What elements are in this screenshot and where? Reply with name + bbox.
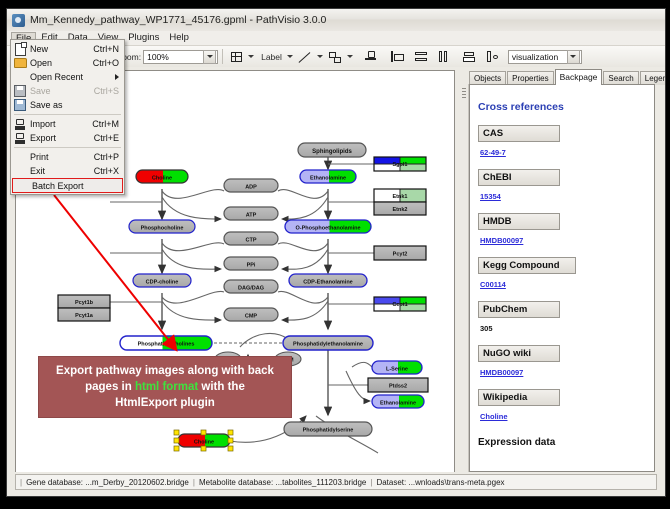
visualization-value: visualization: [512, 52, 558, 62]
zoom-dropdown-button[interactable]: [203, 50, 216, 64]
node-label: Pcyt1b: [75, 300, 94, 306]
align-rows-icon[interactable]: [413, 49, 429, 65]
tab-properties[interactable]: Properties: [507, 71, 553, 85]
xref-value-wikipedia[interactable]: Choline: [480, 412, 508, 421]
expression-data-title: Expression data: [478, 437, 650, 448]
xref-value-nugo[interactable]: HMDB00097: [480, 368, 523, 377]
folder-open-icon: [13, 57, 27, 69]
node-label: O-Phosphoethanolamine: [295, 226, 360, 232]
pathvisio-icon: [12, 14, 25, 27]
node-sphingolipids[interactable]: Sphingolipids: [298, 143, 366, 157]
node-phosphatidylcholines[interactable]: Phosphatidylcholines: [120, 336, 212, 350]
menu-item-label: Print: [30, 152, 94, 162]
toggle-sidepanel-icon[interactable]: [485, 49, 501, 65]
status-bar: | Gene database: ...m_Derby_20120602.bri…: [7, 472, 665, 496]
node-pcyt2[interactable]: Pcyt2: [374, 246, 426, 260]
panel-resize-handle[interactable]: [461, 84, 469, 472]
annotation-line1: Export pathway images along with back: [56, 365, 274, 377]
menu-item-import[interactable]: Import Ctrl+M: [11, 117, 124, 131]
menu-item-accelerator: Ctrl+O: [93, 58, 119, 68]
node-pcyt1a[interactable]: Pcyt1a: [58, 308, 110, 321]
annotation-text: Export pathway images along with back pa…: [50, 363, 280, 411]
title-bar: Mm_Kennedy_pathway_WP1771_45176.gpml - P…: [7, 9, 665, 32]
node-label: PPi: [247, 263, 256, 269]
blank-icon: [15, 180, 29, 192]
save-icon: [13, 85, 27, 97]
xref-source-pubchem: PubChem: [478, 301, 560, 318]
node-ethanolamine-bottom[interactable]: Ethanolamine: [372, 395, 424, 408]
menu-item-accelerator: Ctrl+P: [94, 152, 119, 162]
xref-source-chebi: ChEBI: [478, 169, 560, 186]
import-icon: [13, 118, 27, 130]
window-title: Mm_Kennedy_pathway_WP1771_45176.gpml - P…: [30, 14, 326, 26]
tab-backpage[interactable]: Backpage: [555, 69, 603, 85]
node-atp[interactable]: ATP: [224, 207, 278, 220]
menu-item-label: Open Recent: [30, 72, 115, 82]
annotation-callout: Export pathway images along with back pa…: [38, 356, 292, 418]
menu-item-exit[interactable]: Exit Ctrl+X: [11, 164, 124, 178]
annotation-line3: HtmlExport plugin: [115, 397, 215, 409]
menu-item-batch-export[interactable]: Batch Export: [12, 178, 123, 193]
submenu-arrow-icon: [115, 74, 119, 80]
zoom-value: 100%: [147, 52, 169, 62]
node-phosphatidylethanolamine[interactable]: Phosphatidylethanolamine: [283, 336, 373, 350]
node-sgpl1[interactable]: Sgpl1: [374, 157, 426, 171]
menu-item-save-as[interactable]: Save as: [11, 98, 124, 112]
menu-separator: [14, 114, 121, 115]
menu-item-accelerator: Ctrl+E: [94, 133, 119, 143]
print-icon[interactable]: [461, 49, 477, 65]
menu-item-label: New: [30, 44, 93, 54]
gene-database-label: Gene database:: [26, 478, 83, 487]
stamp-icon[interactable]: [363, 49, 379, 65]
line-dropdown-icon[interactable]: [317, 55, 323, 58]
dataset-label: Dataset:: [376, 478, 406, 487]
menu-plugins[interactable]: Plugins: [123, 31, 164, 45]
node-l-serine[interactable]: L-Serine: [372, 361, 422, 374]
label-tool-label[interactable]: Label: [261, 52, 282, 62]
node-label: Sphingolipids: [312, 149, 352, 155]
xref-value-chebi[interactable]: 15354: [480, 192, 501, 201]
blank-icon: [13, 165, 27, 177]
menu-item-label: Batch Export: [32, 181, 120, 191]
new-document-icon: [13, 43, 27, 55]
node-label: Ethanolamine: [310, 176, 346, 182]
node-label: Ethanolamine: [380, 401, 416, 407]
node-adp[interactable]: ADP: [224, 179, 278, 192]
annotation-line2-a: pages in: [85, 381, 135, 393]
menu-item-label: Export: [30, 133, 94, 143]
menu-item-label: Import: [30, 119, 92, 129]
node-ppi[interactable]: PPi: [224, 257, 278, 270]
xref-source-kegg: Kegg Compound: [478, 257, 576, 274]
xref-source-cas: CAS: [478, 125, 560, 142]
tab-objects[interactable]: Objects: [469, 71, 506, 85]
node-label: ADP: [245, 185, 257, 191]
annotation-line2-b: with the: [198, 381, 245, 393]
node-phosphocholine[interactable]: Phosphocholine: [129, 220, 195, 233]
node-cept1[interactable]: Cept1: [374, 297, 426, 311]
node-label: Pcyt2: [393, 252, 408, 258]
node-label: Pcyt1a: [75, 313, 94, 319]
node-ethanolamine-top[interactable]: Ethanolamine: [300, 170, 356, 183]
menu-item-accelerator: Ctrl+M: [92, 119, 119, 129]
align-left-icon[interactable]: [389, 49, 405, 65]
node-cmp[interactable]: CMP: [224, 308, 278, 321]
node-etnk1[interactable]: Etnk1: [374, 189, 426, 202]
menu-item-label: Save: [30, 86, 94, 96]
node-dag-dag[interactable]: DAG/DAG: [224, 280, 278, 293]
xref-source-nugo: NuGO wiki: [478, 345, 560, 362]
node-label: Choline: [152, 176, 172, 182]
side-panel-tabs[interactable]: Objects Properties Backpage Search Legen…: [469, 70, 657, 85]
menu-item-new[interactable]: New Ctrl+N: [11, 42, 124, 56]
menu-item-open[interactable]: Open Ctrl+O: [11, 56, 124, 70]
cross-references-title: Cross references: [478, 101, 650, 113]
xref-source-wikipedia: Wikipedia: [478, 389, 560, 406]
xref-value-pubchem: 305: [480, 324, 493, 333]
tab-search[interactable]: Search: [603, 71, 638, 85]
export-icon: [13, 132, 27, 144]
node-pcyt1b[interactable]: Pcyt1b: [58, 295, 110, 308]
annotation-highlight: html format: [135, 381, 198, 393]
line-icon[interactable]: [297, 49, 313, 65]
xref-value-kegg[interactable]: C00114: [480, 280, 506, 289]
menu-help[interactable]: Help: [164, 31, 194, 45]
node-label: Phosphatidylserine: [303, 428, 354, 434]
menu-item-accelerator: Ctrl+N: [93, 44, 119, 54]
node-choline-bottom[interactable]: Choline: [174, 430, 233, 451]
node-label: Phosphatidylethanolamine: [293, 342, 363, 348]
node-label: Etnk1: [393, 194, 408, 200]
tab-legend[interactable]: Legend: [640, 71, 666, 85]
xref-source-hmdb: HMDB: [478, 213, 560, 230]
node-label: Etnk2: [393, 207, 408, 213]
menu-separator: [14, 147, 121, 148]
align-columns-icon[interactable]: [437, 49, 453, 65]
menu-item-label: Save as: [30, 100, 119, 110]
menu-item-label: Exit: [30, 166, 94, 176]
metabolite-database-value: ...tabolites_111203.bridge: [275, 478, 366, 487]
node-label: ATP: [246, 213, 257, 219]
node-ctp[interactable]: CTP: [224, 232, 278, 245]
datanode-dropdown-icon[interactable]: [248, 55, 254, 58]
gene-database-value: ...m_Derby_20120602.bridge: [85, 478, 189, 487]
label-dropdown-icon[interactable]: [287, 55, 293, 58]
node-o-phosphoethanolamine[interactable]: O-Phosphoethanolamine: [285, 220, 371, 233]
pathvisio-main-window: Mm_Kennedy_pathway_WP1771_45176.gpml - P…: [6, 8, 666, 497]
node-etnk2[interactable]: Etnk2: [374, 202, 426, 215]
anchor-icon[interactable]: [327, 49, 343, 65]
menu-item-save: Save Ctrl+S: [11, 84, 124, 98]
node-label: CDP-Ethanolamine: [303, 280, 353, 286]
menu-item-accelerator: Ctrl+X: [94, 166, 119, 176]
side-panel: Objects Properties Backpage Search Legen…: [461, 70, 657, 473]
visualization-dropdown-button[interactable]: [567, 50, 580, 64]
save-as-icon: [13, 99, 27, 111]
zoom-combobox[interactable]: 100%: [143, 50, 218, 64]
visualization-combobox[interactable]: visualization: [508, 50, 582, 64]
file-menu-dropdown[interactable]: New Ctrl+N Open Ctrl+O Open Recent Save …: [10, 39, 125, 195]
node-label: DAG/DAG: [238, 286, 264, 292]
backpage-panel[interactable]: Cross references CAS 62-49-7 ChEBI 15354…: [469, 84, 655, 472]
node-label: Choline: [194, 440, 214, 446]
node-label: Phosphocholine: [141, 226, 184, 232]
node-cdp-ethanolamine[interactable]: CDP-Ethanolamine: [289, 274, 367, 287]
status-line: | Gene database: ...m_Derby_20120602.bri…: [15, 474, 657, 490]
node-label: Ptdss2: [389, 384, 407, 390]
blank-icon: [13, 151, 27, 163]
datanode-grid-icon[interactable]: [228, 49, 244, 65]
node-choline-top[interactable]: Choline: [136, 170, 188, 183]
menu-item-accelerator: Ctrl+S: [94, 86, 119, 96]
menu-item-label: Open: [30, 58, 93, 68]
node-ptdss2[interactable]: Ptdss2: [368, 378, 428, 392]
menu-item-open-recent[interactable]: Open Recent: [11, 70, 124, 84]
menu-item-export[interactable]: Export Ctrl+E: [11, 131, 124, 145]
node-label: L-Serine: [386, 367, 408, 373]
node-label: CDP-choline: [146, 280, 179, 286]
node-label: Sgpl1: [393, 162, 408, 168]
node-phosphatidylserine[interactable]: Phosphatidylserine: [284, 422, 372, 436]
xref-value-cas[interactable]: 62-49-7: [480, 148, 506, 157]
xref-value-hmdb[interactable]: HMDB00097: [480, 236, 523, 245]
dataset-value: ...wnloads\trans-meta.pgex: [408, 478, 504, 487]
menu-item-print[interactable]: Print Ctrl+P: [11, 150, 124, 164]
node-label: Cept1: [392, 302, 407, 308]
node-label: Phosphatidylcholines: [138, 342, 195, 348]
blank-icon: [13, 71, 27, 83]
metabolite-database-label: Metabolite database:: [199, 478, 273, 487]
node-cdp-choline[interactable]: CDP-choline: [133, 274, 191, 287]
anchor-dropdown-icon[interactable]: [347, 55, 353, 58]
node-label: CTP: [246, 238, 257, 244]
node-label: CMP: [245, 314, 258, 320]
